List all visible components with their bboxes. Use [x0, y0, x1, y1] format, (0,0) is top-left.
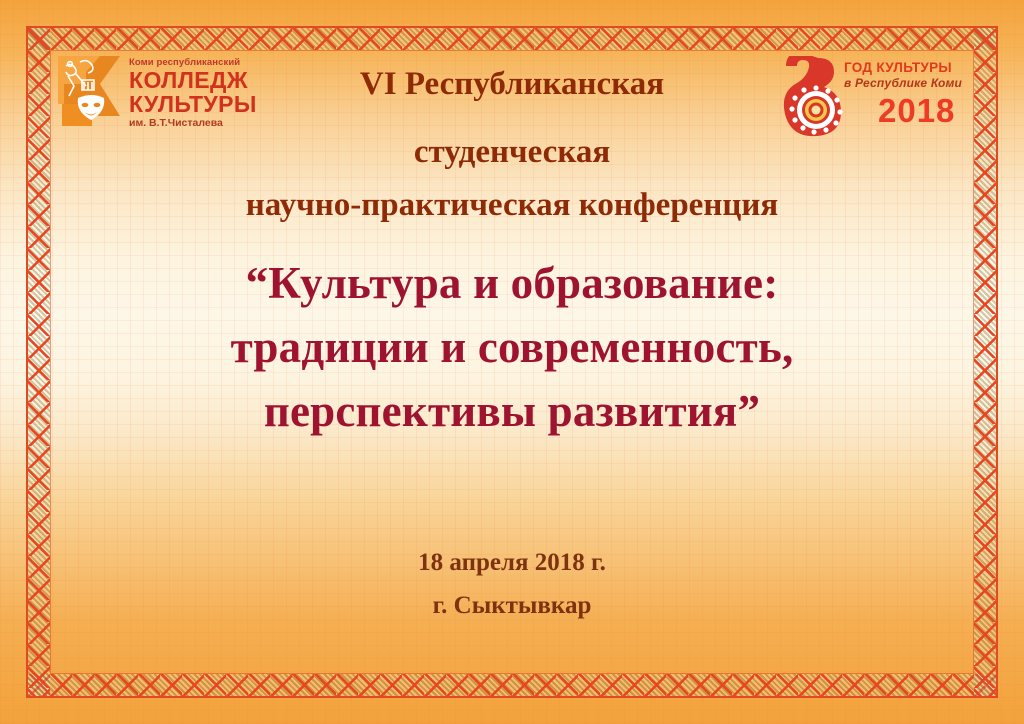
zigzag-pattern-icon	[974, 28, 996, 696]
border-band-left	[28, 28, 50, 696]
zigzag-pattern-icon	[28, 28, 996, 50]
conference-heading-line-2: студенческая	[52, 134, 972, 171]
conference-poster: Коми республиканский КОЛЛЕДЖ КУЛЬТУРЫ им…	[0, 0, 1024, 724]
poster-content: Коми республиканский КОЛЛЕДЖ КУЛЬТУРЫ им…	[52, 52, 972, 672]
conference-footer: 18 апреля 2018 г. г. Сыктывкар	[52, 542, 972, 627]
conference-title: “Культура и образование: традиции и совр…	[52, 252, 972, 444]
conference-title-line-3: перспективы развития”	[52, 380, 972, 444]
zigzag-pattern-icon	[28, 28, 50, 696]
conference-city: г. Сыктывкар	[52, 585, 972, 628]
conference-heading-line-1: VI Республиканская	[52, 66, 972, 103]
border-band-right	[974, 28, 996, 696]
conference-date: 18 апреля 2018 г.	[52, 542, 972, 585]
conference-title-line-1: “Культура и образование:	[52, 252, 972, 316]
border-band-bottom	[28, 674, 996, 696]
zigzag-pattern-icon	[28, 674, 996, 696]
border-band-top	[28, 28, 996, 50]
conference-heading-line-3: научно-практическая конференция	[52, 187, 972, 224]
conference-title-line-2: традиции и современность,	[52, 316, 972, 380]
college-logo-line-bottom: им. В.Т.Чисталева	[129, 118, 257, 129]
